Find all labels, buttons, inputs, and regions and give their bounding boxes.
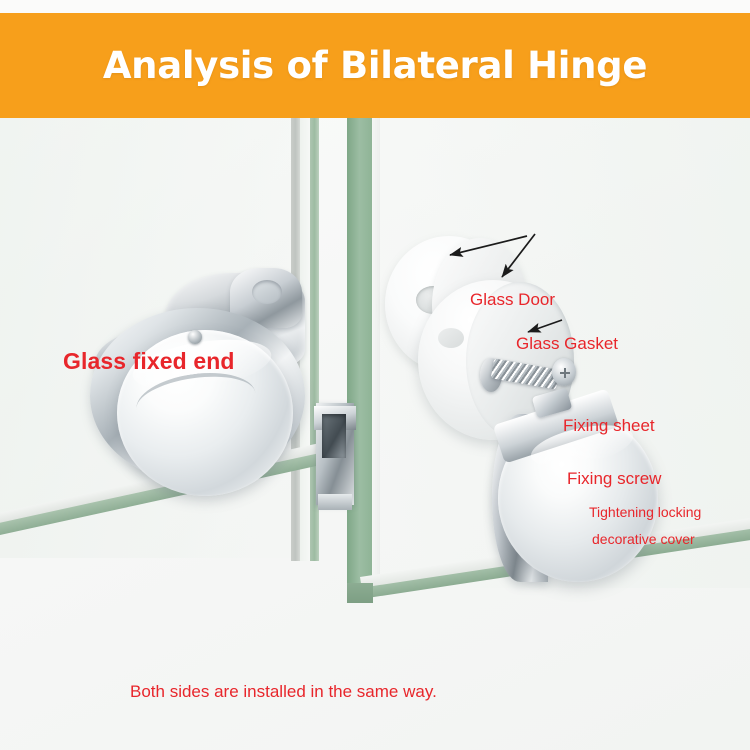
label-fixing-sheet: Fixing sheet	[563, 416, 655, 436]
arrow-glass-door	[450, 236, 527, 255]
label-glass-fixed-end: Glass fixed end	[63, 348, 235, 375]
header-banner: Analysis of Bilateral Hinge	[0, 13, 750, 118]
label-tightening-locking-line1: Tightening locking	[589, 504, 701, 520]
diagram-scene: Glass fixed end Glass Door Glass Gasket …	[0, 118, 750, 750]
label-glass-gasket: Glass Gasket	[516, 334, 618, 354]
label-tightening-locking-line2: decorative cover	[592, 531, 695, 547]
page-title: Analysis of Bilateral Hinge	[103, 44, 647, 87]
label-fixing-screw: Fixing screw	[567, 469, 661, 489]
arrow-fixing-sheet	[528, 320, 562, 332]
product-diagram-page: Analysis of Bilateral Hinge	[0, 0, 750, 750]
label-glass-door: Glass Door	[470, 290, 555, 310]
footnote-text: Both sides are installed in the same way…	[130, 682, 437, 702]
